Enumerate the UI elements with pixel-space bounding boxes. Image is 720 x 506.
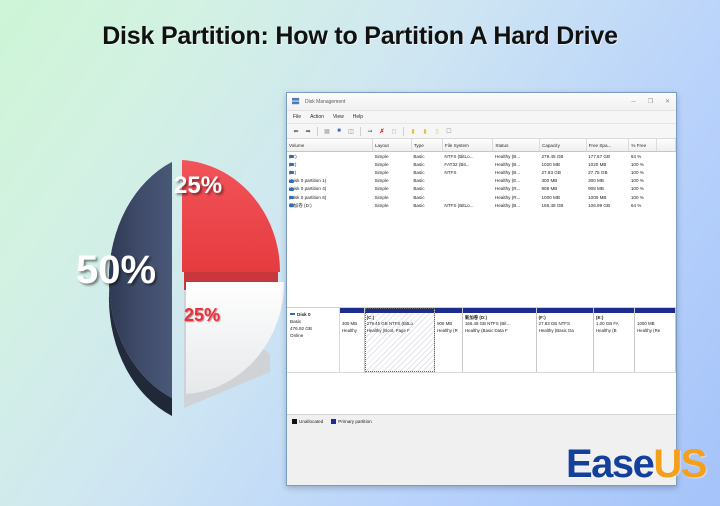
volume-cell: 300 MB [586,177,629,185]
toolbar-separator [360,127,361,136]
delete-icon[interactable]: ✗ [377,126,387,136]
volume-cell: Basic [411,177,442,185]
volume-cell-name: (Disk 0 partition 6) [287,193,372,201]
partition-color-bar [463,308,536,313]
column-header-spacer [656,139,675,152]
pie-slice-navy [109,162,172,398]
volume-cell-spacer [656,185,675,193]
volume-icon [289,204,294,207]
volume-cell: Simple [372,160,411,168]
partition-color-bar [537,308,593,313]
volume-cell-name: (C:) [287,152,372,161]
disk-name-wrap: Disk 0 [290,311,336,318]
column-header-free-space[interactable]: Free Spa... [586,139,629,152]
toolbar-separator [317,127,318,136]
pie-chart-svg [34,140,284,425]
volume-cell-spacer [656,168,675,176]
table-row[interactable]: (F:)SimpleBasicNTFSHealthy (B...27.83 GB… [287,168,676,176]
volume-cell: Simple [372,201,411,210]
partition-color-bar [594,308,634,313]
volume-icon [289,171,294,174]
volume-cell: 1020 MB [586,160,629,168]
window-title-bar[interactable]: Disk Management ─ ❐ ✕ [287,93,676,111]
pie-slice-white [186,282,284,394]
disk-status: Online [290,332,336,339]
column-header-capacity[interactable]: Capacity [540,139,587,152]
volume-cell: 279.45 GB [540,152,587,161]
back-icon[interactable]: ⬅ [291,126,301,136]
volume-cell: NTFS (BitLo... [442,201,493,210]
volume-cell: 100 % [629,160,656,168]
volume-cell: 177.67 GB [586,152,629,161]
volume-cell: Healthy (R... [493,185,540,193]
partition-block[interactable]: 1000 MBHealthy (Re [635,308,676,372]
partition-color-bar [365,308,434,313]
legend-swatch-unallocated [292,419,297,424]
forward-icon[interactable]: ➡ [303,126,313,136]
volume-cell: 1000 MB [540,193,587,201]
logo-text-ease: Ease [566,442,653,486]
partition-pie-chart: 50% 25% 25% [34,140,284,425]
disk-icon [290,313,295,315]
volume-cell: Healthy (B... [493,152,540,161]
volume-cell: Healthy (R... [493,193,540,201]
easeus-logo: EaseUS [566,444,706,484]
partition-color-bar [635,308,675,313]
refresh-icon[interactable]: ➞ [365,126,375,136]
volume-list-pane: Volume Layout Type File System Status Ca… [287,139,676,308]
volume-cell-spacer [656,160,675,168]
help-icon[interactable]: ◻ [389,126,399,136]
disk-capacity: 476.92 GB [290,325,336,332]
volume-cell-spacer [656,193,675,201]
volume-cell: 27.75 GB [586,168,629,176]
volume-cell-name: (F:) [287,168,372,176]
all-tasks-icon[interactable]: ☐ [444,126,454,136]
disk-management-window: Disk Management ─ ❐ ✕ File Action View H… [286,92,677,486]
window-title: Disk Management [305,99,625,105]
legend-swatch-primary [331,419,336,424]
close-button[interactable]: ✕ [659,93,676,110]
volume-cell [442,185,493,193]
volume-cell: Healthy (B... [493,168,540,176]
screenshot-canvas: Disk Partition: How to Partition A Hard … [0,0,720,506]
volume-table-body: (C:)SimpleBasicNTFS (BitLo...Healthy (B.… [287,152,676,211]
disk-row: Disk 0 Basic 476.92 GB Online 300 MBHeal… [287,308,676,373]
partition-status: Healthy [342,328,362,334]
shrink-volume-icon[interactable]: ▯ [432,126,442,136]
partition-block[interactable]: 908 MBHealthy (R [435,308,463,372]
volume-icon [289,180,294,183]
column-header-layout[interactable]: Layout [372,139,411,152]
volume-cell: 908 MB [540,185,587,193]
volume-cell: 300 MB [540,177,587,185]
pie-slice-red [182,160,280,272]
menu-item-action[interactable]: Action [310,114,324,120]
volume-cell: Simple [372,185,411,193]
volume-table-header: Volume Layout Type File System Status Ca… [287,139,676,152]
column-header-type[interactable]: Type [411,139,442,152]
legend-item-unallocated: Unallocated [292,419,323,424]
legend-label-primary: Primary partition [338,419,371,424]
volume-cell: 1020 MB [540,160,587,168]
partition-block[interactable]: (C:)279.45 GB NTFS (BitLoHealthy (Boot, … [365,308,435,372]
volume-cell: NTFS [442,168,493,176]
volume-cell-name: (Disk 0 partition 4) [287,185,372,193]
volume-cell: FAT32 (Bit... [442,160,493,168]
volume-cell: Basic [411,168,442,176]
volume-cell-spacer [656,201,675,210]
volume-cell: 1000 MB [586,193,629,201]
volume-cell: 100 % [629,193,656,201]
volume-cell: 106.99 GB [586,201,629,210]
volume-cell-name: (E:) [287,160,372,168]
new-volume-icon[interactable]: ▮ [408,126,418,136]
partition-status: Healthy (B [596,328,632,334]
partition-block[interactable]: 新加卷 (D:)166.48 GB NTFS (Bit…Healthy (Bas… [463,308,537,372]
table-row[interactable]: 新加卷 (D:)SimpleBasicNTFS (BitLo...Healthy… [287,201,676,210]
properties-icon[interactable]: ◫ [346,126,356,136]
legend-item-primary: Primary partition [331,419,371,424]
volume-icon [289,188,294,191]
menu-item-view[interactable]: View [333,114,344,120]
volume-cell: Basic [411,193,442,201]
page-title: Disk Partition: How to Partition A Hard … [0,22,720,51]
table-row[interactable]: (C:)SimpleBasicNTFS (BitLo...Healthy (B.… [287,152,676,161]
disk-management-icon [292,97,301,106]
partition-status: Healthy (Boot, Page F [367,328,432,334]
partition-blocks: 300 MBHealthy(C:)279.45 GB NTFS (BitLoHe… [340,308,676,372]
toolbar: ⬅ ➡ ▦ ■ ◫ ➞ ✗ ◻ ▮ ▮ ▯ ☐ [287,124,676,139]
volume-cell: Simple [372,168,411,176]
volume-cell: 64 % [629,152,656,161]
volume-cell: 100 % [629,185,656,193]
volume-cell: Basic [411,160,442,168]
partition-status: Healthy (Basic Data F [465,328,534,334]
column-header-file-system[interactable]: File System [442,139,493,152]
maximize-button[interactable]: ❐ [642,93,659,110]
menu-bar: File Action View Help [287,111,676,124]
volume-cell: 64 % [629,201,656,210]
disk-graphic-pane: Disk 0 Basic 476.92 GB Online 300 MBHeal… [287,308,676,428]
volume-cell: 100 % [629,168,656,176]
volume-cell-spacer [656,152,675,161]
volume-cell: Healthy (B... [493,160,540,168]
partition-status: Healthy (R [437,328,460,334]
volume-cell: 166.48 GB [540,201,587,210]
show-hide-tree-icon[interactable]: ■ [334,126,344,136]
extend-volume-icon[interactable]: ▮ [420,126,430,136]
disk-name: Disk 0 [297,312,311,317]
volume-cell: Healthy (E... [493,177,540,185]
volume-icon [289,155,294,158]
partition-block[interactable]: (F:)27.83 GB NTFSHealthy (Basic Da [537,308,594,372]
volume-cell: Basic [411,185,442,193]
partition-status: Healthy (Basic Da [539,328,591,334]
column-header-status[interactable]: Status [493,139,540,152]
disk-info-panel[interactable]: Disk 0 Basic 476.92 GB Online [287,308,340,372]
toolbar-separator [403,127,404,136]
table-row[interactable]: (Disk 0 partition 6)SimpleBasicHealthy (… [287,193,676,201]
minimize-button[interactable]: ─ [625,93,642,110]
up-icon[interactable]: ▦ [322,126,332,136]
volume-cell: NTFS (BitLo... [442,152,493,161]
volume-cell-name: (Disk 0 partition 1) [287,177,372,185]
table-row[interactable]: (E:)SimpleBasicFAT32 (Bit...Healthy (B..… [287,160,676,168]
partition-color-bar [340,308,364,313]
column-header-volume[interactable]: Volume [287,139,372,152]
volume-cell-spacer [656,177,675,185]
volume-cell: Basic [411,201,442,210]
logo-text-us: US [653,442,706,486]
partition-block[interactable]: 300 MBHealthy [340,308,365,372]
volume-cell: Healthy (B... [493,201,540,210]
menu-item-help[interactable]: Help [353,114,363,120]
volume-cell: Simple [372,193,411,201]
legend-label-unallocated: Unallocated [299,419,323,424]
volume-cell [442,193,493,201]
menu-item-file[interactable]: File [293,114,301,120]
volume-cell: 908 MB [586,185,629,193]
volume-cell: 100 % [629,177,656,185]
volume-icon [289,163,294,166]
partition-status: Healthy (Re [637,328,673,334]
volume-cell-name: 新加卷 (D:) [287,201,372,210]
disk-type: Basic [290,318,336,325]
volume-cell: Simple [372,177,411,185]
table-row[interactable]: (Disk 0 partition 4)SimpleBasicHealthy (… [287,185,676,193]
partition-block[interactable]: (E:)1.00 GB FAHealthy (B [594,308,635,372]
volume-cell [442,177,493,185]
legend: Unallocated Primary partition [287,414,676,428]
column-header-percent-free[interactable]: % Free [629,139,656,152]
partition-color-bar [435,308,462,313]
volume-icon [289,196,294,199]
volume-cell: Basic [411,152,442,161]
table-row[interactable]: (Disk 0 partition 1)SimpleBasicHealthy (… [287,177,676,185]
volume-table: Volume Layout Type File System Status Ca… [287,139,676,210]
volume-cell: Simple [372,152,411,161]
volume-cell: 27.83 GB [540,168,587,176]
